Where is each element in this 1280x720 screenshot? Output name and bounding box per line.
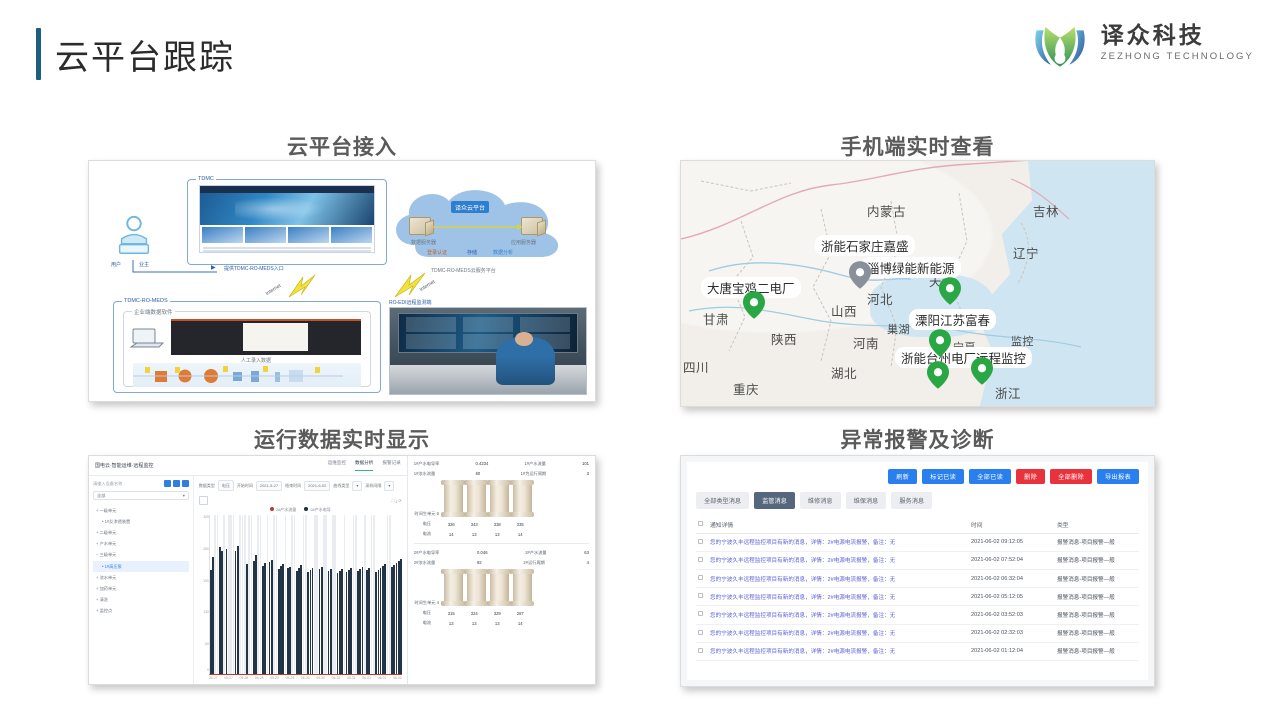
browser-lines bbox=[200, 245, 374, 253]
current-label-1: 电流 bbox=[414, 531, 440, 537]
kv-label-4: 2#产水电导率 bbox=[414, 550, 440, 556]
chart-legend: 2#产水流量 2#产水电导 bbox=[199, 507, 402, 513]
kv-row-3: 2#浓水流量 92 2#运行周期 4 bbox=[414, 560, 589, 566]
chart-x-tick: 05-29 bbox=[270, 676, 279, 680]
row-type: 报警消息-项目报警—般 bbox=[1055, 606, 1139, 624]
tdmc-frame-label: TDMC bbox=[196, 176, 216, 182]
search-icon[interactable] bbox=[164, 480, 171, 487]
row-time: 2021-06-02 02:32:03 bbox=[969, 624, 1055, 642]
user-terminal-icon bbox=[111, 213, 157, 259]
col-detail: 通知详情 bbox=[708, 516, 969, 534]
local-software-label: 企业端数据软件 bbox=[132, 308, 175, 316]
kv-value-1: 101 bbox=[582, 461, 589, 467]
play-icon[interactable] bbox=[199, 496, 208, 505]
filter-value-0[interactable]: 电压 bbox=[218, 480, 234, 491]
server-data bbox=[409, 217, 431, 235]
filter-label-3: 曲线类型 bbox=[333, 483, 349, 489]
kv-value-5: 63 bbox=[584, 550, 589, 556]
row-checkbox-cell[interactable] bbox=[696, 569, 708, 587]
row-type: 报警消息-项目报警—般 bbox=[1055, 588, 1139, 606]
row-time: 2021-06-02 05:12:05 bbox=[969, 588, 1055, 606]
kv-value-7: 4 bbox=[587, 560, 589, 566]
unit-label-2: 时间生单元 4 bbox=[414, 600, 440, 606]
alarm-button-1[interactable]: 标记已读 bbox=[922, 469, 964, 484]
desktop-computer-icon bbox=[129, 327, 165, 351]
table-row[interactable]: 您的宁波久丰远程监控项目有新的消息，详情：2#电源电流报警，备注：无2021-0… bbox=[696, 569, 1139, 587]
chart-x-tick: 05-31 bbox=[332, 676, 341, 680]
chart-action-icons[interactable]: ⛶ ⤓ ⟳ bbox=[392, 498, 402, 503]
unit-label-1: 时间生单元 6 bbox=[414, 511, 440, 517]
filter-label-4: 采样间隔 bbox=[365, 483, 381, 489]
province-label-hubei: 湖北 bbox=[831, 363, 857, 382]
chart-x-tick: 06-01 bbox=[362, 676, 371, 680]
tree-node-7[interactable]: + 加药单元 bbox=[93, 583, 189, 594]
chart-x-tick: 05-28 bbox=[255, 676, 264, 680]
row-checkbox[interactable] bbox=[698, 539, 703, 544]
row-type: 报警消息-项目报警—般 bbox=[1055, 642, 1139, 660]
map-pin-green-4[interactable] bbox=[971, 357, 993, 385]
tree-node-2[interactable]: + 二级单元 bbox=[93, 527, 189, 538]
caption-mobile: 手机端实时查看 bbox=[680, 131, 1155, 161]
tree-node-8[interactable]: + 清洗 bbox=[93, 595, 189, 606]
legend-label-1: 2#产水电导 bbox=[310, 507, 330, 512]
col-type: 类型 bbox=[1055, 516, 1139, 534]
chart-x-axis: 05-2705-2705-2805-2805-2905-2905-3005-30… bbox=[209, 676, 402, 680]
chart-x-tick: 05-31 bbox=[347, 676, 356, 680]
site-label-shijiazhuang[interactable]: 浙能石家庄嘉盛 bbox=[815, 235, 915, 256]
chart-x-tick: 05-29 bbox=[286, 676, 295, 680]
row-type: 报警消息-项目报警—般 bbox=[1055, 533, 1139, 551]
table-row[interactable]: 您的宁波久丰远程监控项目有新的消息，详情：2#电源电流报警，备注：无2021-0… bbox=[696, 642, 1139, 660]
data-dashboard: 国电云·智能运维·远程监控 运维监控 数据分析 报警记录 请输入设备名称 bbox=[89, 456, 595, 684]
current-2-4: 14 bbox=[509, 621, 532, 626]
map-extra-label: 监控 bbox=[1011, 333, 1034, 349]
current-2-3: 13 bbox=[486, 621, 509, 626]
chart-filters: 数据类型 电压 开始时间 2021-5-27 结束时间 2021-6-02 曲线… bbox=[199, 480, 402, 491]
voltage-2-4: 287 bbox=[509, 611, 532, 616]
chart-x-tick: 05-27 bbox=[209, 676, 218, 680]
mobile-map-image: 内蒙古 吉林 辽宁 河北 山西 天津 山东 甘肃 陕西 河南 湖北 四川 重庆 … bbox=[680, 160, 1155, 407]
alarm-button-2[interactable]: 全部已读 bbox=[969, 469, 1011, 484]
province-label-zhejiang: 浙江 bbox=[995, 383, 1021, 402]
alarm-tab-4[interactable]: 服务消息 bbox=[891, 492, 932, 508]
province-label-shaanxi: 陕西 bbox=[771, 329, 797, 348]
tree-node-label-5: 1#高压泵 bbox=[105, 564, 122, 569]
coil-2-2 bbox=[467, 569, 486, 606]
browser-hero bbox=[200, 193, 374, 225]
tree-search-placeholder: 请输入设备名称 bbox=[93, 481, 162, 487]
alarm-tab-2[interactable]: 维修消息 bbox=[800, 492, 841, 508]
current-1-4: 14 bbox=[509, 532, 532, 537]
select-all-cell[interactable] bbox=[696, 516, 708, 534]
chart-x-tick: 05-28 bbox=[240, 676, 249, 680]
tree-node-label-1: 1#反渗透装置 bbox=[105, 519, 131, 524]
chart-plot: 320250 190130 600 bbox=[209, 515, 402, 675]
tree-node-label-9: 监控点 bbox=[100, 608, 113, 613]
kv-value-2: 60 bbox=[476, 471, 481, 477]
value-row-current-1: 电流 14 13 13 14 bbox=[414, 531, 589, 537]
kv-label-2: 1#浓水流量 bbox=[414, 471, 435, 477]
select-all-checkbox[interactable] bbox=[698, 521, 703, 526]
tree-node-3[interactable]: + 产水单元 bbox=[93, 539, 189, 550]
dashboard-left: 国电云·智能运维·远程监控 运维监控 数据分析 报警记录 请输入设备名称 bbox=[89, 456, 408, 684]
row-checkbox[interactable] bbox=[698, 557, 703, 562]
province-label-jilin: 吉林 bbox=[1033, 201, 1059, 220]
alarm-tab-0[interactable]: 全部类型消息 bbox=[696, 492, 749, 508]
internet-label-1: Internet bbox=[265, 283, 283, 297]
kv-row-1: 1#浓水流量 60 1#为运行周期 3 bbox=[414, 471, 589, 477]
province-label-gansu: 甘肃 bbox=[703, 309, 729, 328]
chart-x-tick: 06-01 bbox=[378, 676, 387, 680]
province-label-neimenggu: 内蒙古 bbox=[867, 201, 906, 220]
row-checkbox[interactable] bbox=[698, 648, 703, 653]
map-pin-green-1[interactable] bbox=[939, 277, 961, 305]
badge-login: 登录认证 bbox=[427, 249, 447, 256]
control-desk bbox=[390, 365, 586, 394]
row-type: 报警消息-项目报警—般 bbox=[1055, 551, 1139, 569]
chart-x-tick: 06-02 bbox=[393, 676, 402, 680]
value-row-voltage-1: 电压 326 343 338 335 bbox=[414, 521, 589, 527]
row-detail[interactable]: 您的宁波久丰远程监控项目有新的消息，详情：2#电源电流报警，备注：无 bbox=[708, 569, 969, 587]
page-title-group: 云平台跟踪 bbox=[36, 28, 235, 80]
current-2-1: 13 bbox=[440, 621, 463, 626]
coil-1-4 bbox=[513, 480, 532, 517]
dashboard-right: 1#产水电导率 0.4234 1#产水流量 101 1#浓水流量 60 1#为运… bbox=[408, 456, 595, 684]
row-type: 报警消息-项目报警—般 bbox=[1055, 624, 1139, 642]
tree-node-5[interactable]: • 1#高压泵 bbox=[93, 561, 189, 572]
alarm-tab-row: 全部类型消息监管消息维修消息维保消息服务消息 bbox=[696, 492, 1139, 508]
coil-2-1 bbox=[444, 569, 463, 606]
china-map: 内蒙古 吉林 辽宁 河北 山西 天津 山东 甘肃 陕西 河南 湖北 四川 重庆 … bbox=[681, 161, 1154, 406]
caption-data: 运行数据实时显示 bbox=[88, 424, 596, 454]
row-checkbox-cell[interactable] bbox=[696, 606, 708, 624]
server-label-2: 应用服务器 bbox=[511, 239, 536, 246]
row-detail[interactable]: 您的宁波久丰远程监控项目有新的消息，详情：2#电源电流报警，备注：无 bbox=[708, 642, 969, 660]
alarm-button-row: 刷新标记已读全部已读删除全部删除导出报表 bbox=[696, 469, 1139, 484]
software-screenshot bbox=[171, 319, 361, 355]
current-label-2: 电流 bbox=[414, 620, 440, 626]
province-label-chaohu: 巢湖 bbox=[887, 321, 910, 337]
kv-value-3: 3 bbox=[587, 471, 589, 477]
voltage-1-3: 338 bbox=[486, 522, 509, 527]
chart-bars bbox=[210, 515, 402, 674]
table-row[interactable]: 您的宁波久丰远程监控项目有新的消息，详情：2#电源电流报警，备注：无2021-0… bbox=[696, 551, 1139, 569]
tree-node-6[interactable]: + 浓水单元 bbox=[93, 572, 189, 583]
browser-tiles bbox=[200, 225, 374, 245]
row-time: 2021-06-02 01:12:04 bbox=[969, 642, 1055, 660]
user-label-left: 用户 bbox=[111, 261, 121, 268]
brand-name-en: ZEZHONG TECHNOLOGY bbox=[1101, 51, 1254, 62]
row-detail[interactable]: 您的宁波久丰远程监控项目有新的消息，详情：2#电源电流报警，备注：无 bbox=[708, 624, 969, 642]
current-1-3: 13 bbox=[486, 532, 509, 537]
row-time: 2021-06-02 06:32:04 bbox=[969, 569, 1055, 587]
entry-text: 提供TDMC-RO-MEDS入口 bbox=[224, 265, 284, 272]
map-pin-green-3[interactable] bbox=[929, 329, 951, 357]
row-time: 2021-06-02 03:52:03 bbox=[969, 606, 1055, 624]
voltage-label-2: 电压 bbox=[414, 610, 440, 616]
voltage-2-2: 324 bbox=[463, 611, 486, 616]
province-label-liaoning: 辽宁 bbox=[1013, 243, 1039, 262]
province-label-sichuan: 四川 bbox=[683, 357, 709, 376]
chart-area: 数据类型 电压 开始时间 2021-5-27 结束时间 2021-6-02 曲线… bbox=[194, 476, 407, 684]
chevron-down-icon: ▾ bbox=[183, 493, 185, 498]
kv-label-6: 2#浓水流量 bbox=[414, 560, 435, 566]
voltage-1-1: 326 bbox=[440, 522, 463, 527]
col-time: 时间 bbox=[969, 516, 1055, 534]
value-row-voltage-2: 电压 315 324 329 287 bbox=[414, 610, 589, 616]
caption-alarm: 异常报警及诊断 bbox=[680, 424, 1155, 454]
legend-label-0: 2#产水流量 bbox=[276, 507, 296, 512]
software-topline bbox=[171, 319, 361, 321]
coil-1-2 bbox=[467, 480, 486, 517]
chart-x-tick: 05-30 bbox=[316, 676, 325, 680]
site-label-zibo[interactable]: 淄博绿能新能源 bbox=[861, 257, 961, 278]
server-link-line bbox=[433, 224, 523, 230]
kv-value-0: 0.4234 bbox=[476, 461, 489, 467]
kv-value-6: 92 bbox=[477, 560, 482, 566]
dashboard-tabs: 运维监控 数据分析 报警记录 bbox=[328, 460, 401, 471]
row-detail[interactable]: 您的宁波久丰远程监控项目有新的消息，详情：2#电源电流报警，备注：无 bbox=[708, 588, 969, 606]
coil-2-3 bbox=[490, 569, 509, 606]
alarm-screen: 刷新标记已读全部已读删除全部删除导出报表 全部类型消息监管消息维修消息维保消息服… bbox=[681, 456, 1154, 686]
voltage-1-4: 335 bbox=[509, 522, 532, 527]
chart-x-tick: 05-30 bbox=[301, 676, 310, 680]
dashboard-body: 请输入设备名称 全部 ▾ + 一级单元 • 1#反渗透装置 + 二级单元 + 产 bbox=[89, 476, 407, 684]
operator-head bbox=[515, 332, 533, 346]
refresh-icon[interactable] bbox=[182, 480, 189, 487]
brand-text: 译众科技 ZEZHONG TECHNOLOGY bbox=[1101, 24, 1254, 62]
coil-1-1 bbox=[444, 480, 463, 517]
map-pin-green-5[interactable] bbox=[927, 361, 949, 389]
page-title: 云平台跟踪 bbox=[55, 30, 235, 79]
kv-row-2: 2#产水电导率 0.046 2#产水流量 63 bbox=[414, 550, 589, 556]
voltage-2-1: 315 bbox=[440, 611, 463, 616]
map-pin-green-2[interactable] bbox=[743, 291, 765, 319]
alarm-button-4[interactable]: 全部删除 bbox=[1050, 469, 1092, 484]
row-time: 2021-06-02 07:52:04 bbox=[969, 551, 1055, 569]
tab-baojing[interactable]: 报警记录 bbox=[382, 460, 400, 471]
alarm-tab-1[interactable]: 监管消息 bbox=[754, 492, 795, 508]
value-row-current-2: 电流 13 13 13 14 bbox=[414, 620, 589, 626]
control-room-photo bbox=[389, 307, 587, 395]
chart-bar bbox=[400, 559, 402, 674]
legend-item-1[interactable]: 2#产水电导 bbox=[304, 507, 330, 513]
site-label-liyang[interactable]: 溧阳江苏富春 bbox=[909, 309, 996, 330]
tree-node-label-7: 加药单元 bbox=[100, 586, 117, 591]
server-label-1: 数据服务器 bbox=[411, 239, 436, 246]
alarm-button-3[interactable]: 删除 bbox=[1016, 469, 1045, 484]
dashboard-topbar: 国电云·智能运维·远程监控 运维监控 数据分析 报警记录 bbox=[89, 456, 407, 476]
photo-label: RO-EDI远程监测端 bbox=[389, 299, 432, 306]
badge-storage: 存储 bbox=[467, 249, 477, 256]
alarm-button-5[interactable]: 导出报表 bbox=[1097, 469, 1139, 484]
tree-select-value: 全部 bbox=[97, 493, 105, 499]
dashboard-brand: 国电云·智能运维·远程监控 bbox=[95, 462, 153, 469]
user-connector-line bbox=[129, 256, 219, 278]
chart-y-axis: 320250 190130 600 bbox=[200, 515, 210, 674]
alarm-button-0[interactable]: 刷新 bbox=[888, 469, 917, 484]
unit-row-1: 时间生单元 6 bbox=[414, 480, 589, 517]
current-2-2: 13 bbox=[463, 621, 486, 626]
coil-1-3 bbox=[490, 480, 509, 517]
website-screenshot bbox=[199, 185, 375, 253]
realtime-data-image: 国电云·智能运维·远程监控 运维监控 数据分析 报警记录 请输入设备名称 bbox=[88, 455, 596, 685]
unit-row-2: 时间生单元 4 bbox=[414, 569, 589, 606]
row-checkbox[interactable] bbox=[698, 630, 703, 635]
kv-row-0: 1#产水电导率 0.4234 1#产水流量 101 bbox=[414, 461, 589, 467]
filter-value-3[interactable]: ▾ bbox=[352, 481, 362, 491]
kv-value-4: 0.046 bbox=[477, 550, 487, 556]
tree-node-label-2: 二级单元 bbox=[100, 530, 117, 535]
filter-icon[interactable] bbox=[173, 480, 180, 487]
province-label-hebei: 河北 bbox=[867, 289, 893, 308]
kv-label-1: 1#产水流量 bbox=[524, 461, 545, 467]
site-label-taizhou[interactable]: 浙能台州电厂远程监控 bbox=[895, 347, 1032, 368]
badge-analysis: 数据分析 bbox=[493, 249, 513, 256]
voltage-2-3: 329 bbox=[486, 611, 509, 616]
filter-label-1: 开始时间 bbox=[237, 483, 253, 489]
table-row[interactable]: 您的宁波久丰远程监控项目有新的消息，详情：2#电源电流报警，备注：无2021-0… bbox=[696, 533, 1139, 551]
cloud-architecture-image: 用户 业主 TDMC 提供TDMC-RO-MEDS入口 ▶ bbox=[88, 160, 596, 402]
tree-node-label-0: 一级单元 bbox=[100, 508, 117, 513]
current-1-2: 13 bbox=[463, 532, 486, 537]
alarm-tab-3[interactable]: 维保消息 bbox=[846, 492, 887, 508]
kv-label-5: 2#产水流量 bbox=[525, 550, 546, 556]
row-checkbox[interactable] bbox=[698, 575, 703, 580]
table-row[interactable]: 您的宁波久丰远程监控项目有新的消息，详情：2#电源电流报警，备注：无2021-0… bbox=[696, 624, 1139, 642]
brand-logo: 译众科技 ZEZHONG TECHNOLOGY bbox=[1031, 14, 1254, 72]
kv-label-0: 1#产水电导率 bbox=[414, 461, 440, 467]
lightning-bolt-left-icon bbox=[285, 273, 325, 299]
row-time: 2021-06-02 09:12:05 bbox=[969, 533, 1055, 551]
filter-value-1[interactable]: 2021-5-27 bbox=[256, 481, 282, 491]
filter-value-2[interactable]: 2021-6-02 bbox=[304, 481, 330, 491]
voltage-label-1: 电压 bbox=[414, 521, 440, 527]
alarm-card: 刷新标记已读全部已读删除全部删除导出报表 全部类型消息监管消息维修消息维保消息服… bbox=[687, 462, 1148, 680]
device-tree: 请输入设备名称 全部 ▾ + 一级单元 • 1#反渗透装置 + 二级单元 + 产 bbox=[89, 476, 194, 684]
voltage-1-2: 343 bbox=[463, 522, 486, 527]
slide-root: 云平台跟踪 bbox=[0, 0, 1280, 720]
filter-label-2: 结束时间 bbox=[285, 483, 301, 489]
row-checkbox-cell[interactable] bbox=[696, 588, 708, 606]
process-flow-diagram bbox=[133, 363, 361, 387]
tree-node-9[interactable]: + 监控点 bbox=[93, 606, 189, 617]
map-pin-grey[interactable] bbox=[849, 261, 871, 289]
meds-frame-label: TDMC-RO-MEDS bbox=[122, 298, 170, 304]
cloud-caption: TDMC-RO-MEDS云服务平台 bbox=[431, 267, 496, 274]
software-dialog bbox=[243, 323, 308, 351]
tree-node-label-8: 清洗 bbox=[100, 597, 108, 602]
row-detail[interactable]: 您的宁波久丰远程监控项目有新的消息，详情：2#电源电流报警，备注：无 bbox=[708, 533, 969, 551]
row-checkbox-cell[interactable] bbox=[696, 533, 708, 551]
tree-node-label-3: 产水单元 bbox=[100, 541, 117, 546]
tree-node-label-4: 三级单元 bbox=[100, 552, 117, 557]
cloud-platform-tag: 译众云平台 bbox=[451, 201, 489, 213]
tree-select[interactable]: 全部 ▾ bbox=[93, 491, 189, 500]
architecture-diagram: 用户 业主 TDMC 提供TDMC-RO-MEDS入口 ▶ bbox=[89, 161, 595, 401]
row-checkbox[interactable] bbox=[698, 593, 703, 598]
row-detail[interactable]: 您的宁波久丰远程监控项目有新的消息，详情：2#电源电流报警，备注：无 bbox=[708, 606, 969, 624]
row-detail[interactable]: 您的宁波久丰远程监控项目有新的消息，详情：2#电源电流报警，备注：无 bbox=[708, 551, 969, 569]
row-checkbox-cell[interactable] bbox=[696, 551, 708, 569]
filter-label-0: 数据类型 bbox=[199, 483, 215, 489]
brand-name-cn: 译众科技 bbox=[1101, 24, 1254, 48]
title-accent-bar bbox=[36, 28, 41, 80]
coil-2-4 bbox=[513, 569, 532, 606]
browser-topbar bbox=[200, 186, 374, 193]
alarm-table: 通知详情 时间 类型 您的宁波久丰远程监控项目有新的消息，详情：2#电源电流报警… bbox=[696, 516, 1139, 661]
lotus-logo-icon bbox=[1031, 14, 1089, 72]
legend-item-0[interactable]: 2#产水流量 bbox=[270, 507, 296, 513]
chart-tools: ⛶ ⤓ ⟳ bbox=[199, 496, 402, 505]
tree-node-4[interactable]: − 三级单元 bbox=[93, 550, 189, 561]
alarm-table-image: 刷新标记已读全部已读删除全部删除导出报表 全部类型消息监管消息维修消息维保消息服… bbox=[680, 455, 1155, 687]
caption-cloud: 云平台接入 bbox=[88, 131, 596, 161]
tab-shuju[interactable]: 数据分析 bbox=[355, 460, 373, 471]
tree-node-1[interactable]: • 1#反渗透装置 bbox=[93, 516, 189, 527]
table-row[interactable]: 您的宁波久丰远程监控项目有新的消息，详情：2#电源电流报警，备注：无2021-0… bbox=[696, 588, 1139, 606]
server-app bbox=[521, 217, 543, 235]
table-row[interactable]: 您的宁波久丰远程监控项目有新的消息，详情：2#电源电流报警，备注：无2021-0… bbox=[696, 606, 1139, 624]
row-checkbox-cell[interactable] bbox=[696, 624, 708, 642]
province-label-henan: 河南 bbox=[853, 333, 879, 352]
kv-label-3: 1#为运行周期 bbox=[521, 471, 547, 477]
tree-node-label-6: 浓水单元 bbox=[100, 575, 117, 580]
tree-search[interactable]: 请输入设备名称 bbox=[93, 480, 189, 487]
alarm-table-header: 通知详情 时间 类型 bbox=[696, 516, 1139, 534]
province-label-shanxi: 山西 bbox=[831, 301, 857, 320]
row-checkbox[interactable] bbox=[698, 611, 703, 616]
chart-x-tick: 05-27 bbox=[224, 676, 233, 680]
filter-value-4[interactable]: ▾ bbox=[384, 481, 394, 491]
kv-label-7: 2#运行周期 bbox=[523, 560, 544, 566]
section-divider bbox=[414, 543, 589, 544]
province-label-chongqing: 重庆 bbox=[733, 379, 759, 398]
row-checkbox-cell[interactable] bbox=[696, 642, 708, 660]
row-type: 报警消息-项目报警—般 bbox=[1055, 569, 1139, 587]
current-1-1: 14 bbox=[440, 532, 463, 537]
tree-node-0[interactable]: + 一级单元 bbox=[93, 505, 189, 516]
tab-yunwei[interactable]: 运维监控 bbox=[328, 460, 346, 471]
